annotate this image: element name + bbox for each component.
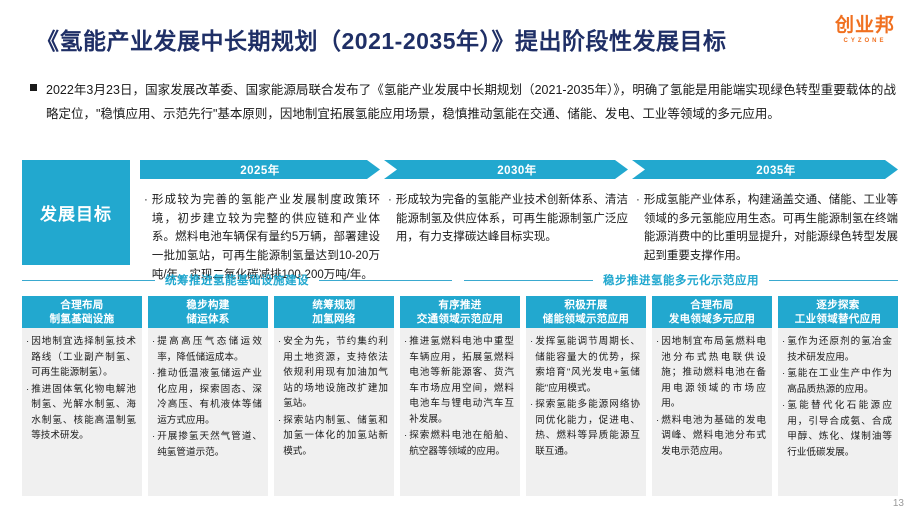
- bullet-dot-icon: ·: [530, 397, 533, 459]
- list-item: ·推进氢燃料电池中重型车辆应用，拓展氢燃料电池等新能源客、货汽车市场应用空间，燃…: [404, 334, 514, 427]
- list-item: ·安全为先，节约集约利用土地资源，支持依法依规利用现有加油加气站的场地设施改扩建…: [278, 334, 388, 412]
- card-header: 合理布局 制氢基础设施: [22, 296, 142, 328]
- card-title-line2: 工业领域替代应用: [795, 312, 881, 326]
- square-bullet-icon: [30, 84, 37, 91]
- list-item: ·提高高压气态储运效率，降低储运成本。: [152, 334, 262, 365]
- section-header-applications: 稳步推进氢能多元化示范应用: [464, 272, 898, 288]
- bullet-dot-icon: ·: [636, 191, 640, 266]
- card-hydrogen-production-infrastructure: 合理布局 制氢基础设施 ·因地制宜选择制氢技术路线（工业副产制氢、可再生能源制氢…: [22, 296, 142, 496]
- list-item-text: 因地制宜布局氢燃料电池分布式热电联供设施；推动燃料电池在备用电源领域的市场应用。: [661, 334, 766, 412]
- list-item: ·探索站内制氢、储氢和加氢一体化的加氢站新模式。: [278, 413, 388, 460]
- card-header: 合理布局 发电领域多元应用: [652, 296, 772, 328]
- card-title-line2: 加氢网络: [312, 312, 355, 326]
- slide-root: 《氢能产业发展中长期规划（2021-2035年）》提出阶段性发展目标 创业邦 C…: [0, 0, 920, 517]
- page-title: 《氢能产业发展中长期规划（2021-2035年）》提出阶段性发展目标: [36, 22, 727, 56]
- card-energy-storage-demo: 积极开展 储能领域示范应用 ·发挥氢能调节周期长、储能容量大的优势，探索培育"风…: [526, 296, 646, 496]
- list-item: ·氢作为还原剂的氢冶金技术研发应用。: [782, 334, 892, 365]
- list-item-text: 推动低温液氢储运产业化应用，探索固态、深冷高压、有机液体等储运方式应用。: [157, 366, 262, 428]
- card-title-line1: 逐步探索: [816, 298, 859, 312]
- timeline-text-2025: 形成较为完善的氢能产业发展制度政策环境，初步建立较为完整的供应链和产业体系。燃料…: [152, 191, 380, 284]
- timeline-column-2025: 2025年 · 形成较为完善的氢能产业发展制度政策环境，初步建立较为完整的供应链…: [140, 160, 380, 284]
- list-item: ·因地制宜选择制氢技术路线（工业副产制氢、可再生能源制氢）。: [26, 334, 136, 381]
- bullet-dot-icon: ·: [152, 366, 155, 428]
- list-item-text: 探索氢能多能源网络协同优化能力，促进电、热、燃料等异质能源互联互通。: [535, 397, 640, 459]
- list-item-text: 氢作为还原剂的氢冶金技术研发应用。: [787, 334, 892, 365]
- card-bullet-list: ·因地制宜布局氢燃料电池分布式热电联供设施；推动燃料电池在备用电源领域的市场应用…: [656, 334, 766, 459]
- card-bullet-list: ·发挥氢能调节周期长、储能容量大的优势，探索培育"风光发电+氢储能"应用模式。 …: [530, 334, 640, 459]
- card-title-line2: 发电领域多元应用: [669, 312, 755, 326]
- card-body: ·氢作为还原剂的氢冶金技术研发应用。 ·氢能在工业生产中作为高品质热源的应用。 …: [778, 328, 898, 496]
- timeline: 发展目标 2025年 · 形成较为完善的氢能产业发展制度政策环境，初步建立较为完…: [22, 160, 898, 265]
- list-item-text: 探索站内制氢、储氢和加氢一体化的加氢站新模式。: [283, 413, 388, 460]
- card-header: 统筹规划 加氢网络: [274, 296, 394, 328]
- list-item-text: 开展掺氢天然气管道、纯氢管道示范。: [157, 429, 262, 460]
- list-item-text: 探索燃料电池在船舶、航空器等领域的应用。: [409, 428, 514, 459]
- bullet-dot-icon: ·: [404, 428, 407, 459]
- divider-rule: [319, 280, 452, 281]
- list-item-text: 燃料电池为基础的发电调峰、燃料电池分布式发电示范应用。: [661, 413, 766, 460]
- list-item-text: 发挥氢能调节周期长、储能容量大的优势，探索培育"风光发电+氢储能"应用模式。: [535, 334, 640, 396]
- bullet-dot-icon: ·: [530, 334, 533, 396]
- timeline-year-2030: 2030年: [497, 162, 537, 178]
- timeline-banner-2035: 2035年: [632, 160, 898, 179]
- card-title-line1: 统筹规划: [312, 298, 355, 312]
- section-label-right: 稳步推进氢能多元化示范应用: [593, 272, 769, 288]
- cyzone-logo: 创业邦 CYZONE: [828, 16, 902, 44]
- list-item-text: 因地制宜选择制氢技术路线（工业副产制氢、可再生能源制氢）。: [31, 334, 136, 381]
- card-title-line2: 交通领域示范应用: [417, 312, 503, 326]
- bullet-dot-icon: ·: [388, 191, 392, 247]
- card-header: 积极开展 储能领域示范应用: [526, 296, 646, 328]
- card-refueling-network: 统筹规划 加氢网络 ·安全为先，节约集约利用土地资源，支持依法依规利用现有加油加…: [274, 296, 394, 496]
- intro-paragraph: 2022年3月23日，国家发展改革委、国家能源局联合发布了《氢能产业发展中长期规…: [30, 78, 896, 127]
- timeline-text-2035: 形成氢能产业体系，构建涵盖交通、储能、工业等领域的多元氢能应用生态。可再生能源制…: [644, 191, 898, 266]
- card-title-line1: 合理布局: [690, 298, 733, 312]
- logo-en-text: CYZONE: [828, 38, 902, 44]
- card-title-line1: 稳步构建: [186, 298, 229, 312]
- card-bullet-list: ·提高高压气态储运效率，降低储运成本。 ·推动低温液氢储运产业化应用，探索固态、…: [152, 334, 262, 460]
- card-bullet-list: ·推进氢燃料电池中重型车辆应用，拓展氢燃料电池等新能源客、货汽车市场应用空间，燃…: [404, 334, 514, 459]
- timeline-body-2025: · 形成较为完善的氢能产业发展制度政策环境，初步建立较为完整的供应链和产业体系。…: [140, 191, 380, 284]
- list-item-text: 推进固体氧化物电解池制氢、光解水制氢、海水制氢、核能高温制氢等技术研发。: [31, 382, 136, 444]
- bullet-dot-icon: ·: [656, 413, 659, 460]
- list-item: ·推动低温液氢储运产业化应用，探索固态、深冷高压、有机液体等储运方式应用。: [152, 366, 262, 428]
- list-item-text: 氢能在工业生产中作为高品质热源的应用。: [787, 366, 892, 397]
- card-body: ·因地制宜布局氢燃料电池分布式热电联供设施；推动燃料电池在备用电源领域的市场应用…: [652, 328, 772, 496]
- divider-rule: [769, 280, 898, 281]
- card-power-generation-apps: 合理布局 发电领域多元应用 ·因地制宜布局氢燃料电池分布式热电联供设施；推动燃料…: [652, 296, 772, 496]
- card-title-line1: 积极开展: [564, 298, 607, 312]
- card-body: ·因地制宜选择制氢技术路线（工业副产制氢、可再生能源制氢）。 ·推进固体氧化物电…: [22, 328, 142, 496]
- list-item: ·燃料电池为基础的发电调峰、燃料电池分布式发电示范应用。: [656, 413, 766, 460]
- section-label-left: 统筹推进氢能基础设施建设: [155, 272, 319, 288]
- intro-text: 2022年3月23日，国家发展改革委、国家能源局联合发布了《氢能产业发展中长期规…: [46, 78, 896, 127]
- bullet-dot-icon: ·: [782, 398, 785, 460]
- bullet-dot-icon: ·: [144, 191, 148, 284]
- goal-label-text: 发展目标: [40, 200, 112, 225]
- bullet-dot-icon: ·: [656, 334, 659, 412]
- bullet-dot-icon: ·: [278, 413, 281, 460]
- bullet-dot-icon: ·: [26, 334, 29, 381]
- timeline-column-2030: 2030年 · 形成较为完备的氢能产业技术创新体系、清洁能源制氢及供应体系，可再…: [384, 160, 628, 247]
- bullet-dot-icon: ·: [26, 382, 29, 444]
- list-item: ·氢能替代化石能源应用，引导合成氨、合成甲醇、炼化、煤制油等行业低碳发展。: [782, 398, 892, 460]
- timeline-banner-2025: 2025年: [140, 160, 380, 179]
- card-title-line2: 制氢基础设施: [50, 312, 115, 326]
- timeline-year-2025: 2025年: [240, 162, 280, 178]
- card-header: 逐步探索 工业领域替代应用: [778, 296, 898, 328]
- timeline-banner-2030: 2030年: [384, 160, 628, 179]
- bullet-dot-icon: ·: [152, 334, 155, 365]
- list-item: ·因地制宜布局氢燃料电池分布式热电联供设施；推动燃料电池在备用电源领域的市场应用…: [656, 334, 766, 412]
- bullet-dot-icon: ·: [152, 429, 155, 460]
- timeline-text-2030: 形成较为完备的氢能产业技术创新体系、清洁能源制氢及供应体系，可再生能源制氢广泛应…: [396, 191, 628, 247]
- divider-rule: [464, 280, 593, 281]
- card-body: ·发挥氢能调节周期长、储能容量大的优势，探索培育"风光发电+氢储能"应用模式。 …: [526, 328, 646, 496]
- list-item-text: 推进氢燃料电池中重型车辆应用，拓展氢燃料电池等新能源客、货汽车市场应用空间，燃料…: [409, 334, 514, 427]
- card-bullet-list: ·安全为先，节约集约利用土地资源，支持依法依规利用现有加油加气站的场地设施改扩建…: [278, 334, 388, 459]
- card-title-line1: 有序推进: [438, 298, 481, 312]
- card-transport-sector-demo: 有序推进 交通领域示范应用 ·推进氢燃料电池中重型车辆应用，拓展氢燃料电池等新能…: [400, 296, 520, 496]
- list-item: ·推进固体氧化物电解池制氢、光解水制氢、海水制氢、核能高温制氢等技术研发。: [26, 382, 136, 444]
- card-title-line2: 储运体系: [186, 312, 229, 326]
- list-item: ·开展掺氢天然气管道、纯氢管道示范。: [152, 429, 262, 460]
- timeline-column-2035: 2035年 · 形成氢能产业体系，构建涵盖交通、储能、工业等领域的多元氢能应用生…: [632, 160, 898, 266]
- card-header: 稳步构建 储运体系: [148, 296, 268, 328]
- list-item: ·探索氢能多能源网络协同优化能力，促进电、热、燃料等异质能源互联互通。: [530, 397, 640, 459]
- list-item: ·探索燃料电池在船舶、航空器等领域的应用。: [404, 428, 514, 459]
- timeline-year-2035: 2035年: [756, 162, 796, 178]
- section-header-infrastructure: 统筹推进氢能基础设施建设: [22, 272, 452, 288]
- card-bullet-list: ·氢作为还原剂的氢冶金技术研发应用。 ·氢能在工业生产中作为高品质热源的应用。 …: [782, 334, 892, 460]
- list-item-text: 氢能替代化石能源应用，引导合成氨、合成甲醇、炼化、煤制油等行业低碳发展。: [787, 398, 892, 460]
- card-header: 有序推进 交通领域示范应用: [400, 296, 520, 328]
- bullet-dot-icon: ·: [782, 334, 785, 365]
- card-body: ·推进氢燃料电池中重型车辆应用，拓展氢燃料电池等新能源客、货汽车市场应用空间，燃…: [400, 328, 520, 496]
- list-item-text: 安全为先，节约集约利用土地资源，支持依法依规利用现有加油加气站的场地设施改扩建加…: [283, 334, 388, 412]
- card-body: ·安全为先，节约集约利用土地资源，支持依法依规利用现有加油加气站的场地设施改扩建…: [274, 328, 394, 496]
- divider-rule: [22, 280, 155, 281]
- timeline-body-2030: · 形成较为完备的氢能产业技术创新体系、清洁能源制氢及供应体系，可再生能源制氢广…: [384, 191, 628, 247]
- card-title-line1: 合理布局: [60, 298, 103, 312]
- timeline-body-2035: · 形成氢能产业体系，构建涵盖交通、储能、工业等领域的多元氢能应用生态。可再生能…: [632, 191, 898, 266]
- list-item: ·氢能在工业生产中作为高品质热源的应用。: [782, 366, 892, 397]
- goal-label-box: 发展目标: [22, 160, 130, 265]
- card-grid: 合理布局 制氢基础设施 ·因地制宜选择制氢技术路线（工业副产制氢、可再生能源制氢…: [22, 296, 898, 496]
- bullet-dot-icon: ·: [782, 366, 785, 397]
- card-industrial-substitution: 逐步探索 工业领域替代应用 ·氢作为还原剂的氢冶金技术研发应用。 ·氢能在工业生…: [778, 296, 898, 496]
- card-body: ·提高高压气态储运效率，降低储运成本。 ·推动低温液氢储运产业化应用，探索固态、…: [148, 328, 268, 496]
- bullet-dot-icon: ·: [404, 334, 407, 427]
- list-item: ·发挥氢能调节周期长、储能容量大的优势，探索培育"风光发电+氢储能"应用模式。: [530, 334, 640, 396]
- logo-cn-text: 创业邦: [828, 16, 902, 35]
- card-storage-transport-system: 稳步构建 储运体系 ·提高高压气态储运效率，降低储运成本。 ·推动低温液氢储运产…: [148, 296, 268, 496]
- card-bullet-list: ·因地制宜选择制氢技术路线（工业副产制氢、可再生能源制氢）。 ·推进固体氧化物电…: [26, 334, 136, 444]
- bullet-dot-icon: ·: [278, 334, 281, 412]
- page-number: 13: [893, 498, 904, 509]
- list-item-text: 提高高压气态储运效率，降低储运成本。: [157, 334, 262, 365]
- card-title-line2: 储能领域示范应用: [543, 312, 629, 326]
